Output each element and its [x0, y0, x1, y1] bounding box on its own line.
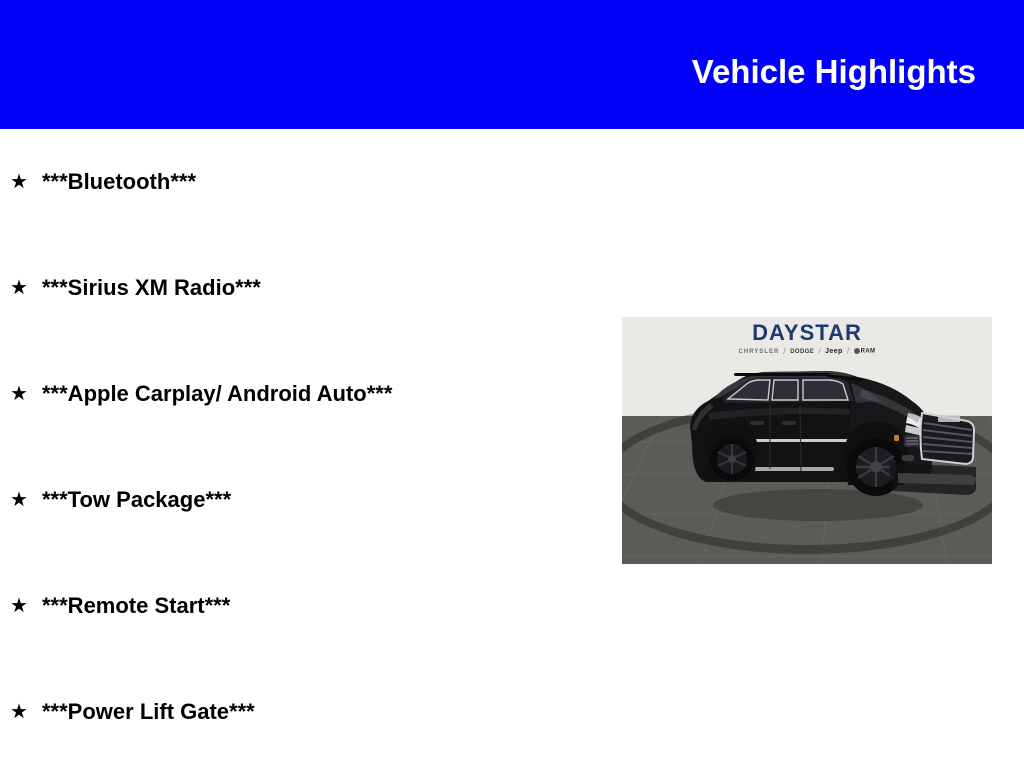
- dealer-logo: DAYSTAR CHRYSLER / DODGE / Jeep / RAM: [622, 322, 992, 356]
- highlight-label: ***Tow Package***: [42, 489, 231, 511]
- dodge-brand-logo: DODGE: [790, 349, 814, 355]
- brand-separator-icon: /: [783, 347, 786, 356]
- highlight-label: ***Apple Carplay/ Android Auto***: [42, 383, 392, 405]
- star-bullet-icon: ★: [10, 278, 42, 298]
- list-item: ★ ***Power Lift Gate***: [10, 697, 255, 727]
- star-bullet-icon: ★: [10, 596, 42, 616]
- star-bullet-icon: ★: [10, 384, 42, 404]
- header-banner: Vehicle Highlights: [0, 0, 1024, 129]
- vehicle-photo: DAYSTAR CHRYSLER / DODGE / Jeep / RAM: [622, 317, 992, 564]
- star-bullet-icon: ★: [10, 490, 42, 510]
- jeep-brand-logo: Jeep: [825, 348, 843, 355]
- brand-separator-icon: /: [818, 347, 821, 356]
- dealer-brand-row: CHRYSLER / DODGE / Jeep / RAM: [622, 347, 992, 356]
- vehicle-highlights-page: Vehicle Highlights ★ ***Bluetooth*** ★ *…: [0, 0, 1024, 768]
- list-item: ★ ***Remote Start***: [10, 591, 230, 621]
- star-bullet-icon: ★: [10, 702, 42, 722]
- list-item: ★ ***Sirius XM Radio***: [10, 273, 261, 303]
- ram-brand-logo: RAM: [854, 348, 876, 355]
- star-bullet-icon: ★: [10, 172, 42, 192]
- list-item: ★ ***Bluetooth***: [10, 167, 196, 197]
- page-title: Vehicle Highlights: [692, 39, 1024, 91]
- highlight-label: ***Sirius XM Radio***: [42, 277, 261, 299]
- highlight-label: ***Remote Start***: [42, 595, 230, 617]
- ram-brand-label: RAM: [861, 349, 876, 355]
- brand-separator-icon: /: [847, 347, 850, 356]
- chrysler-brand-logo: CHRYSLER: [739, 349, 780, 355]
- highlight-label: ***Power Lift Gate***: [42, 701, 255, 723]
- list-item: ★ ***Apple Carplay/ Android Auto***: [10, 379, 392, 409]
- ram-head-icon: [854, 348, 860, 354]
- list-item: ★ ***Tow Package***: [10, 485, 231, 515]
- highlight-label: ***Bluetooth***: [42, 171, 196, 193]
- dealer-name: DAYSTAR: [622, 322, 992, 344]
